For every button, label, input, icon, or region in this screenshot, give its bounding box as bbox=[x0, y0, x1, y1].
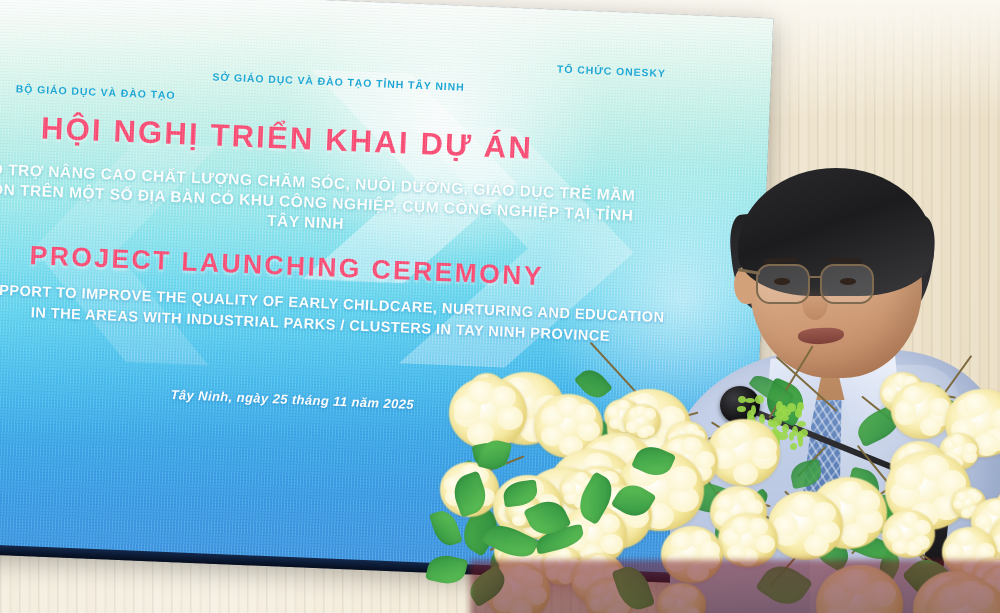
flower-petal bbox=[748, 518, 768, 536]
filler-bloom bbox=[787, 403, 796, 411]
flower-petal bbox=[956, 492, 968, 502]
filler-bloom bbox=[780, 405, 787, 412]
filler-bloom bbox=[745, 398, 755, 403]
flower-petal bbox=[497, 406, 524, 429]
filler-bloom bbox=[797, 431, 803, 441]
filler-bloom bbox=[782, 424, 789, 433]
nose bbox=[802, 286, 828, 320]
flower-petal bbox=[752, 437, 777, 459]
flower-petal bbox=[963, 443, 977, 455]
flower-petal bbox=[573, 404, 596, 425]
flower-petal bbox=[695, 451, 716, 469]
flower-petal bbox=[854, 490, 881, 513]
podium-surface bbox=[470, 560, 1000, 613]
flower-petal bbox=[562, 482, 576, 495]
flower-petal bbox=[609, 418, 622, 429]
flower-petal bbox=[841, 523, 868, 546]
filler-bloom bbox=[797, 402, 804, 411]
filler-bloom bbox=[751, 405, 756, 415]
flower-leaf-front bbox=[425, 552, 468, 587]
flower-petal bbox=[671, 532, 692, 551]
flower-petal bbox=[512, 515, 525, 526]
filler-bloom bbox=[755, 395, 764, 403]
flower-petal bbox=[970, 492, 982, 502]
flower-petal bbox=[699, 541, 720, 560]
ministry-label: BỘ GIÁO DỤC VÀ ĐÀO TẠO bbox=[16, 83, 176, 102]
eye-left bbox=[774, 278, 790, 285]
flower-petal bbox=[626, 421, 639, 432]
filler-bloom bbox=[771, 421, 778, 428]
filler-bloom bbox=[780, 415, 788, 421]
flower-petal bbox=[600, 534, 623, 554]
eyeglass-bridge bbox=[810, 276, 822, 278]
flower-petal bbox=[920, 417, 941, 436]
flower-petal bbox=[637, 427, 650, 438]
filler-bloom bbox=[797, 421, 807, 427]
filler-bloom bbox=[789, 432, 794, 441]
flower-petal bbox=[557, 548, 571, 561]
flower-petal bbox=[988, 500, 1000, 516]
flower-petal bbox=[733, 463, 758, 485]
flower-petal bbox=[963, 393, 988, 415]
flower-petal bbox=[951, 434, 965, 446]
flower-petal bbox=[975, 514, 993, 530]
eye-right bbox=[840, 278, 856, 285]
filler-bloom bbox=[737, 406, 745, 411]
photo-scene: BỘ GIÁO DỤC VÀ ĐÀO TẠO SỞ GIÁO DỤC VÀ ĐÀ… bbox=[0, 0, 1000, 613]
flower-petal bbox=[810, 502, 836, 525]
filler-bloom bbox=[790, 443, 797, 450]
flower-petal bbox=[643, 408, 656, 419]
flower-leaf bbox=[789, 458, 824, 489]
flower-petal bbox=[755, 535, 775, 553]
